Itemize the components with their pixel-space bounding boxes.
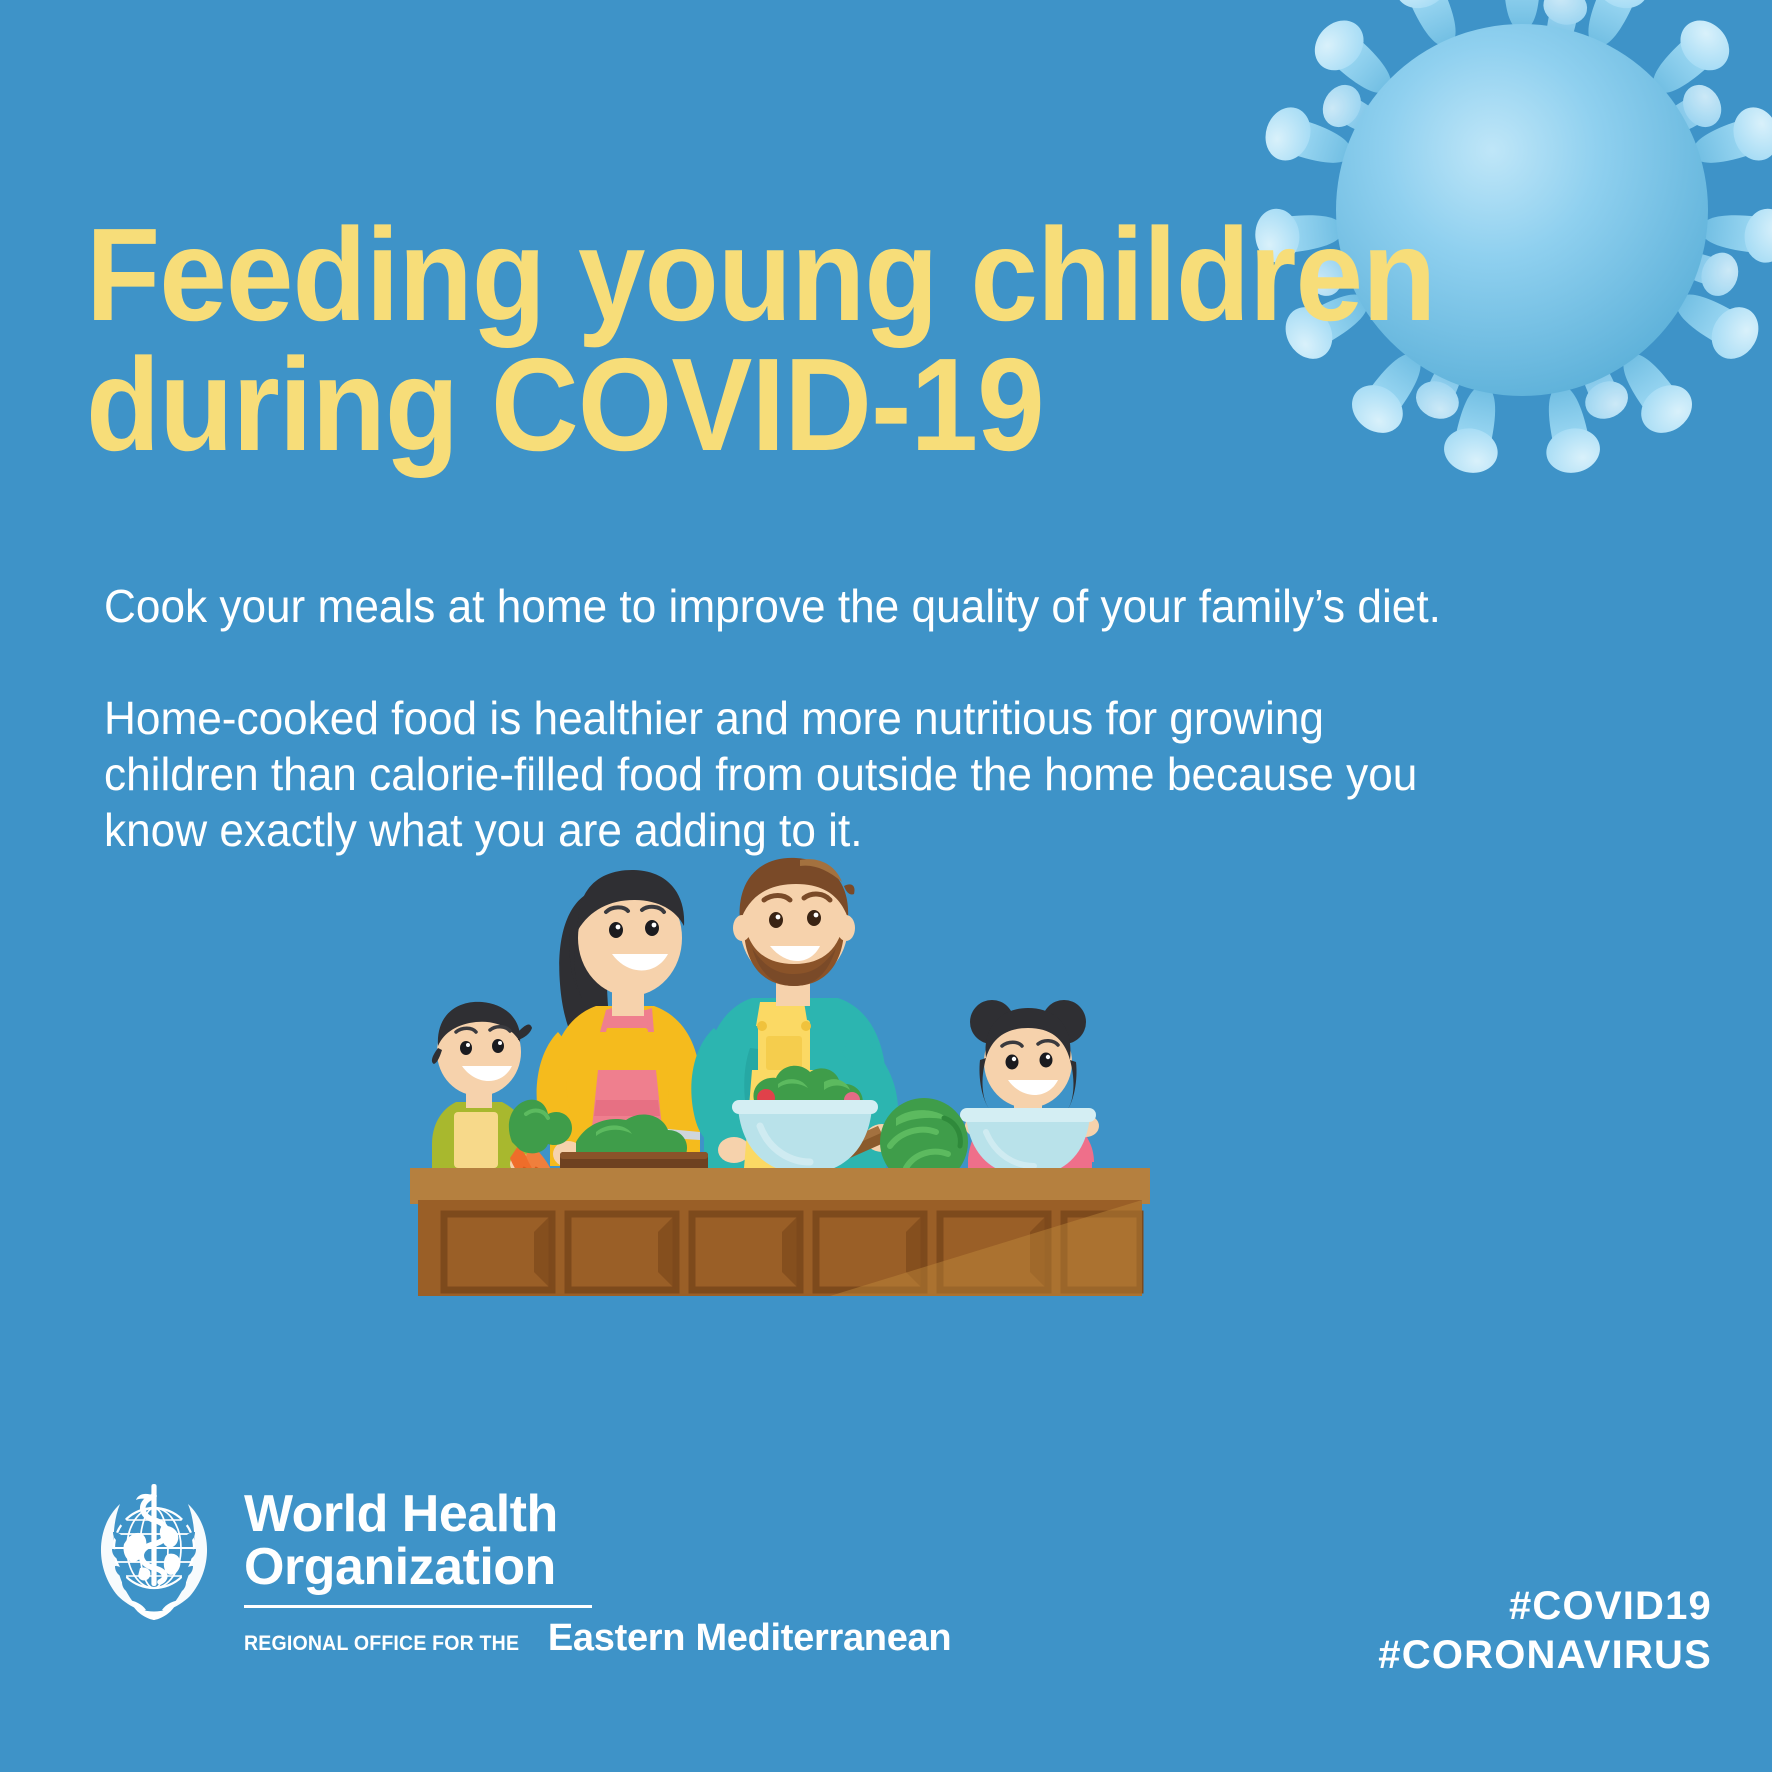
who-divider xyxy=(244,1605,592,1608)
who-logo: World Health Organization REGIONAL OFFIC… xyxy=(84,1482,951,1660)
page-title: Feeding young children during COVID-19 xyxy=(86,210,1365,469)
hashtag-covid19: #COVID19 xyxy=(1378,1582,1712,1631)
who-region-prefix: REGIONAL OFFICE FOR THE xyxy=(244,1632,519,1656)
who-region-name: Eastern Mediterranean xyxy=(548,1617,951,1660)
hashtag-coronavirus: #CORONAVIRUS xyxy=(1378,1631,1712,1680)
who-wordmark-line-1: World Health xyxy=(244,1488,951,1541)
who-wordmark-line-2: Organization xyxy=(244,1541,951,1594)
family-cooking-illustration xyxy=(400,770,1200,1330)
figure-girl xyxy=(960,1000,1099,1176)
kitchen-counter xyxy=(410,1168,1150,1296)
body-paragraph-1: Cook your meals at home to improve the q… xyxy=(104,578,1477,634)
hashtags: #COVID19 #CORONAVIRUS xyxy=(1378,1582,1712,1680)
who-region: REGIONAL OFFICE FOR THE Eastern Mediterr… xyxy=(244,1617,951,1660)
headline-line-2: during COVID-19 xyxy=(86,340,1365,469)
who-emblem-icon xyxy=(84,1482,224,1632)
who-wordmark: World Health Organization REGIONAL OFFIC… xyxy=(244,1482,951,1660)
headline-line-1: Feeding young children xyxy=(86,210,1365,339)
poster-canvas: Feeding young children during COVID-19 C… xyxy=(0,0,1772,1772)
